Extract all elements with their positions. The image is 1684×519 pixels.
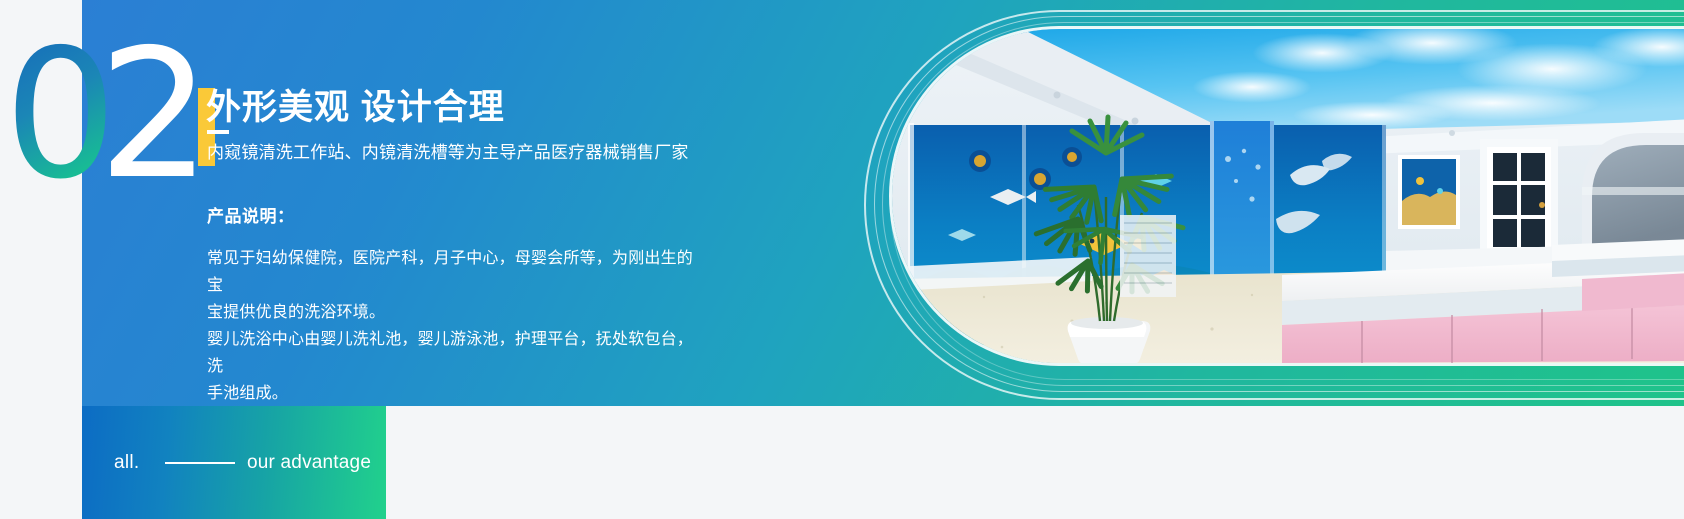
description-line: 宝提供优良的洗浴环境。 — [207, 299, 705, 326]
photo-area — [860, 0, 1684, 406]
footer-left-label: all. — [114, 452, 140, 474]
description-body: 常见于妇幼保健院，医院产科，月子中心，母婴会所等，为刚出生的宝 宝提供优良的洗浴… — [207, 245, 705, 407]
footer-ribbon: all. our advantage — [82, 406, 386, 519]
product-photo-illustration — [892, 29, 1684, 363]
footer-right-label: our advantage — [247, 452, 371, 474]
description-line: 手池组成。 — [207, 380, 705, 407]
slide-number: 0 2 — [0, 26, 180, 216]
slide-canvas: 0 2 外形美观 设计合理 内窥镜清洗工作站、内镜清洗槽等为主导产品医疗器械销售… — [0, 0, 1684, 519]
slide-number-digit-two: 2 — [98, 26, 209, 204]
title-underline-dash — [207, 130, 229, 134]
description-line: 婴儿洗浴中心由婴儿洗礼池，婴儿游泳池，护理平台，抚处软包台，洗 — [207, 326, 705, 380]
title-block: 外形美观 设计合理 内窥镜清洗工作站、内镜清洗槽等为主导产品医疗器械销售厂家 — [198, 86, 718, 168]
hero-copy: 外形美观 设计合理 内窥镜清洗工作站、内镜清洗槽等为主导产品医疗器械销售厂家 产… — [198, 0, 718, 168]
page-title: 外形美观 设计合理 — [206, 84, 505, 132]
description-label: 产品说明： — [207, 205, 295, 229]
product-photo — [892, 29, 1684, 363]
footer-divider-line — [165, 462, 235, 464]
description-line: 常见于妇幼保健院，医院产科，月子中心，母婴会所等，为刚出生的宝 — [207, 245, 705, 299]
footer-ribbon-inner: all. our advantage — [82, 406, 386, 519]
page-subtitle: 内窥镜清洗工作站、内镜清洗槽等为主导产品医疗器械销售厂家 — [207, 141, 689, 165]
